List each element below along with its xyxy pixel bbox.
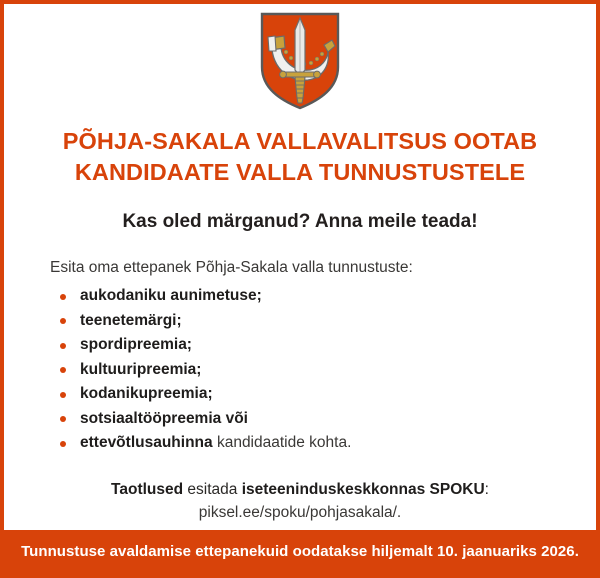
list-item-label: ettevõtlusauhinna	[80, 434, 213, 451]
application-portal-name: iseteeninduskeskkonnas SPOKU	[242, 481, 485, 498]
poster-root: PÕHJA-SAKALA VALLAVALITSUS OOTAB KANDIDA…	[0, 0, 600, 578]
application-mid: esitada	[183, 481, 242, 498]
list-item: aukodaniku aunimetuse;	[50, 284, 550, 309]
list-item: ettevõtlusauhinna kandidaatide kohta.	[50, 431, 550, 456]
list-item: kultuuripreemia;	[50, 358, 550, 383]
intro-text: Esita oma ettepanek Põhja-Sakala valla t…	[50, 258, 550, 278]
application-keyword: Taotlused	[111, 481, 183, 498]
application-line: Taotlused esitada iseteeninduskeskkonnas…	[50, 478, 550, 501]
list-item: kodanikupreemia;	[50, 382, 550, 407]
list-item-label: aukodaniku aunimetuse;	[80, 287, 262, 304]
list-item-label: kodanikupreemia;	[80, 385, 213, 402]
page-title-line-1: PÕHJA-SAKALA VALLAVALITSUS OOTAB	[4, 126, 596, 157]
crest-container	[4, 12, 596, 110]
list-item-label: sotsiaaltööpreemia või	[80, 410, 248, 427]
list-item-label: spordipreemia;	[80, 336, 192, 353]
application-colon: :	[485, 481, 489, 498]
list-item-tail: kandidaatide kohta.	[213, 434, 352, 451]
coat-of-arms-icon	[260, 12, 340, 110]
list-item-label: teenetemärgi;	[80, 312, 182, 329]
bullet-dot-icon	[60, 294, 66, 300]
page-title-line-2: KANDIDAATE VALLA TUNNUSTUSTELE	[4, 157, 596, 188]
deadline-banner: Tunnustuse avaldamise ettepanekuid oodat…	[4, 530, 596, 574]
list-item: spordipreemia;	[50, 333, 550, 358]
page-subtitle: Kas oled märganud? Anna meile teada!	[4, 210, 596, 234]
award-category-list: aukodaniku aunimetuse; teenetemärgi; spo…	[50, 284, 550, 456]
list-item: teenetemärgi;	[50, 309, 550, 334]
bullet-dot-icon	[60, 318, 66, 324]
list-item: sotsiaaltööpreemia või	[50, 407, 550, 432]
bullet-dot-icon	[60, 392, 66, 398]
bullet-dot-icon	[60, 441, 66, 447]
page-title: PÕHJA-SAKALA VALLAVALITSUS OOTAB KANDIDA…	[4, 126, 596, 188]
application-url[interactable]: piksel.ee/spoku/pohjasakala/.	[50, 501, 550, 524]
bullet-dot-icon	[60, 367, 66, 373]
list-item-label: kultuuripreemia;	[80, 361, 201, 378]
bullet-dot-icon	[60, 343, 66, 349]
body-content: Esita oma ettepanek Põhja-Sakala valla t…	[4, 258, 596, 524]
bullet-dot-icon	[60, 416, 66, 422]
application-instructions: Taotlused esitada iseteeninduskeskkonnas…	[50, 478, 550, 524]
